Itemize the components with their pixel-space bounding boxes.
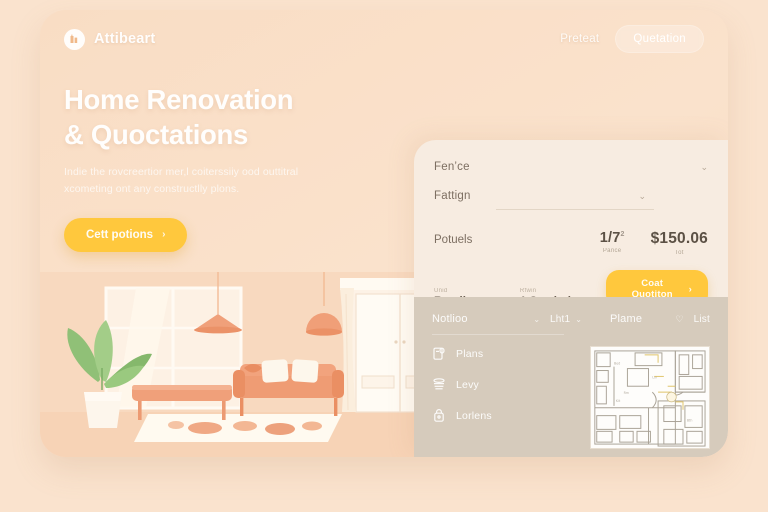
svg-text:Bed: Bed xyxy=(614,362,620,366)
select-fence[interactable]: Fen’ce ⌄ xyxy=(434,158,708,186)
page-title: Home Renovation & Quoctations xyxy=(64,82,394,153)
field-rfwin-caption: Rfwin xyxy=(520,288,606,294)
list-item-levy-label: Levy xyxy=(456,379,479,391)
metrics-group: 1/72 Pance $150.06 Tot xyxy=(600,230,708,256)
quotation-panel: Fen’ce ⌄ Fattign ⌄ Potuels 1/72 Pance xyxy=(414,140,728,457)
field-unid-caption: Unid xyxy=(434,288,520,294)
metric-total-value: $150.06 xyxy=(651,230,708,248)
layers-icon xyxy=(432,377,446,392)
panel-lower-header: Notlioo ⌄ Lht1 ⌄ Plame ♡ List xyxy=(432,313,710,325)
headline-line-1: Home Renovation xyxy=(64,84,293,115)
metric-quantity-value: 1/72 xyxy=(600,230,625,246)
list-item-lorlens[interactable]: Lorlens xyxy=(432,408,578,423)
select-fattign[interactable]: Fattign ⌄ xyxy=(434,186,708,209)
lock-bag-icon xyxy=(432,408,446,423)
scroll-icon xyxy=(432,346,446,361)
metric-total-caption: Tot xyxy=(651,250,708,256)
metric-total: $150.06 Tot xyxy=(651,230,708,256)
select-fattign-label: Fattign xyxy=(434,190,471,202)
svg-text:Rm: Rm xyxy=(624,391,629,395)
plans-header[interactable]: Plame ♡ List xyxy=(610,313,710,325)
hero-card: Attibeart Preteat Quetation Home Renovat… xyxy=(40,10,728,457)
list-item-plans[interactable]: Plans xyxy=(432,346,578,361)
quotation-panel-top: Fen’ce ⌄ Fattign ⌄ Potuels 1/72 Pance xyxy=(414,140,728,308)
arrow-right-icon: › xyxy=(162,229,165,240)
svg-text:Kit: Kit xyxy=(616,399,621,403)
chevron-down-icon: ⌄ xyxy=(638,192,646,201)
metric-quantity: 1/72 Pance xyxy=(600,230,625,254)
hero-cta-label: Cett potions xyxy=(86,229,153,241)
price-row-label: Potuels xyxy=(434,234,472,246)
metric-quantity-sup: 2 xyxy=(620,231,624,238)
select-fence-label: Fen’ce xyxy=(434,161,470,173)
svg-text:Liv: Liv xyxy=(652,375,657,379)
svg-text:Bth: Bth xyxy=(687,418,693,422)
brand-name: Attibeart xyxy=(94,31,155,47)
notice-label: Notlioo xyxy=(432,313,468,325)
notice-list-label: Lht1 xyxy=(550,314,570,325)
list-item-plans-label: Plans xyxy=(456,348,483,360)
metric-quantity-number: 1/7 xyxy=(600,230,621,246)
heart-icon: ♡ xyxy=(676,314,684,325)
plans-label: Plame xyxy=(610,313,642,325)
panel-lower-body: Plans Levy xyxy=(432,346,710,449)
hero-subcopy: Indie the rovcreertior mer,l coiterssiiy… xyxy=(64,164,314,198)
hero-copy: Home Renovation & Quoctations Indie the … xyxy=(64,82,394,252)
list-item-levy[interactable]: Levy xyxy=(432,377,578,392)
plans-list-label: List xyxy=(694,314,710,325)
hero-cta-button[interactable]: Cett potions › xyxy=(64,218,187,252)
nav-right-group: Preteat Quetation xyxy=(560,25,704,53)
building-mark-icon xyxy=(64,29,85,50)
price-summary-row: Potuels 1/72 Pance $150.06 Tot xyxy=(434,210,708,256)
top-navbar: Attibeart Preteat Quetation xyxy=(40,10,728,68)
floorplan-thumbnail[interactable]: Bed Liv Kit Bth Rm xyxy=(590,346,710,449)
brand-logo[interactable]: Attibeart xyxy=(64,29,155,50)
panel-lower-section: Notlioo ⌄ Lht1 ⌄ Plame ♡ List xyxy=(414,297,728,457)
notice-selector[interactable]: Notlioo ⌄ Lht1 ⌄ xyxy=(432,313,582,325)
nav-quotation-button[interactable]: Quetation xyxy=(615,25,704,53)
list-item-lorlens-label: Lorlens xyxy=(456,410,492,422)
chevron-down-icon: ⌄ xyxy=(533,315,540,324)
arrow-right-icon: › xyxy=(689,284,692,295)
headline-line-2: & Quoctations xyxy=(64,119,248,150)
chevron-down-icon: ⌄ xyxy=(700,163,708,172)
nav-link-preteat[interactable]: Preteat xyxy=(560,33,599,45)
lower-divider xyxy=(432,334,564,335)
chevron-down-icon: ⌄ xyxy=(575,315,582,324)
metric-quantity-caption: Pance xyxy=(600,248,625,254)
lower-item-list: Plans Levy xyxy=(432,346,578,449)
